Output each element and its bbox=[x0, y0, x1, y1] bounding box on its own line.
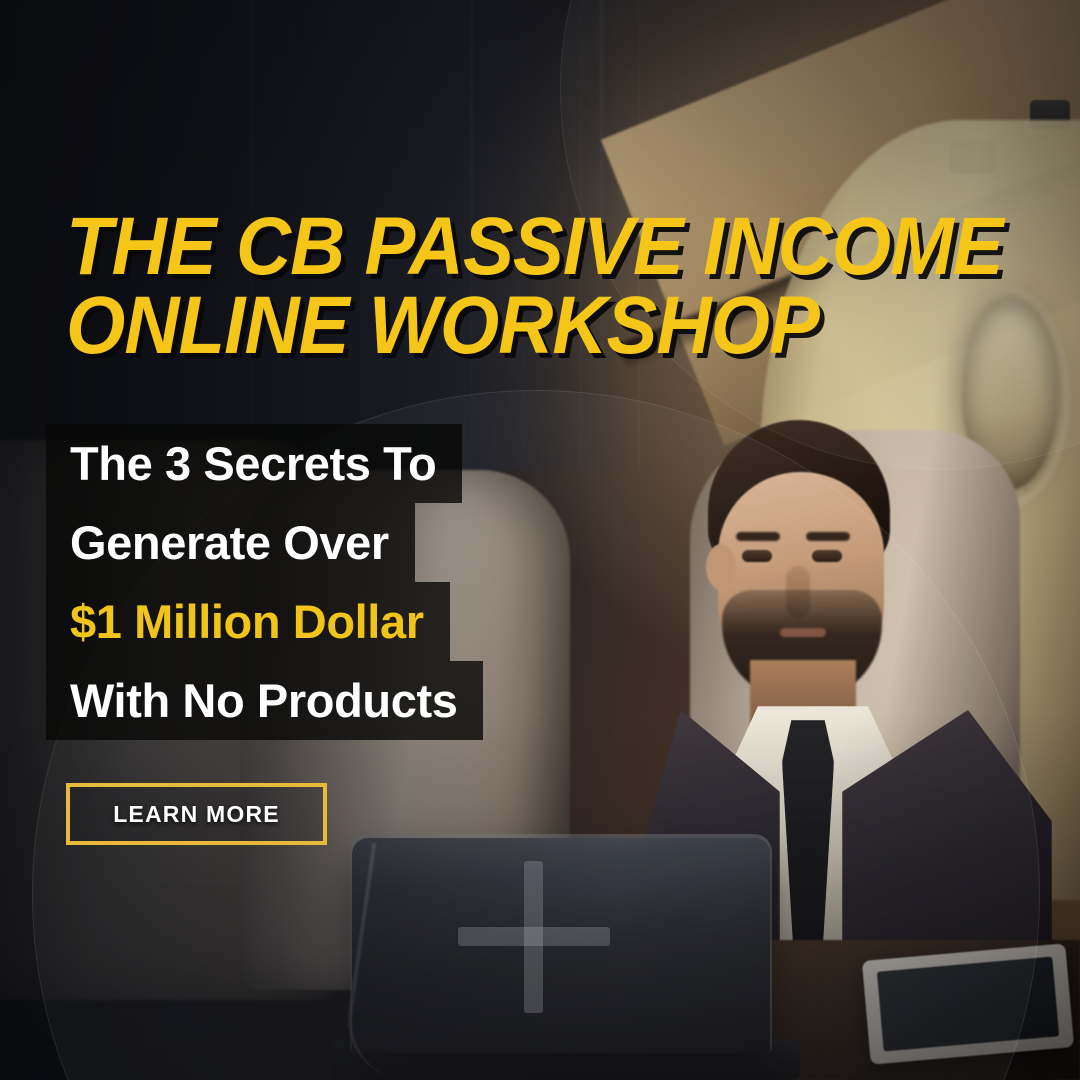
page-title: THE CB PASSIVE INCOME ONLINE WORKSHOP bbox=[66, 208, 959, 365]
headline-line-2: ONLINE WORKSHOP bbox=[66, 287, 959, 366]
subheading-line-3-highlight: $1 Million Dollar bbox=[46, 582, 450, 661]
subheading-block: The 3 Secrets To Generate Over $1 Millio… bbox=[46, 424, 586, 740]
subheading-line-1: The 3 Secrets To bbox=[46, 424, 462, 503]
learn-more-button[interactable]: LEARN MORE bbox=[66, 783, 327, 845]
subheading-line-4: With No Products bbox=[46, 661, 483, 740]
ad-creative: THE CB PASSIVE INCOME ONLINE WORKSHOP Th… bbox=[0, 0, 1080, 1080]
learn-more-button-label: LEARN MORE bbox=[113, 801, 280, 828]
subheading-line-2: Generate Over bbox=[46, 503, 415, 582]
headline-line-1: THE CB PASSIVE INCOME bbox=[66, 208, 959, 287]
